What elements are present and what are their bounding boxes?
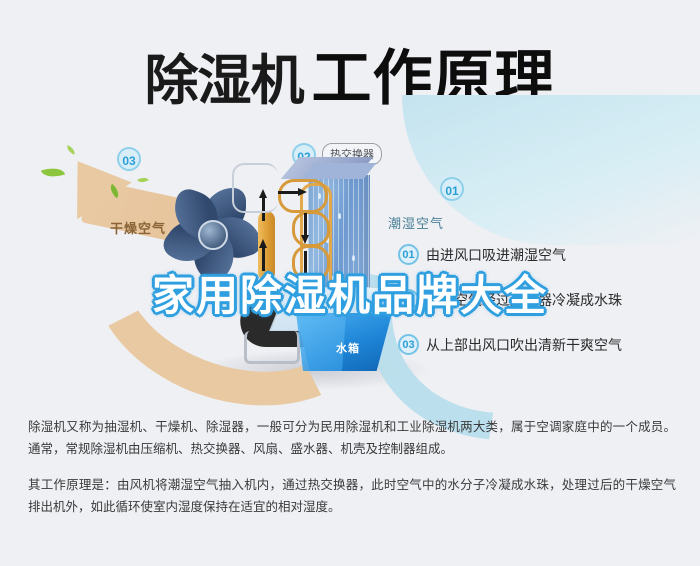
fan-hub <box>198 220 228 250</box>
paragraph-1: 除湿机又称为抽湿机、干燥机、除湿器，一般可分为民用除湿机和工业除湿机两大类，属于… <box>28 416 676 460</box>
paragraph-2: 其工作原理是：由风机将潮湿空气抽入机内，通过热交换器，此时空气中的水分子冷凝成水… <box>28 474 676 518</box>
flow-arrow-stem <box>278 191 298 194</box>
refrigerant-loop-pipe <box>278 179 328 213</box>
overlay-headline: 家用除湿机品牌大全 <box>0 262 700 323</box>
poster-canvas: 除湿机工作原理 01 潮湿空气 干燥空气 03 热交换器 02 <box>0 0 700 566</box>
badge-01: 01 <box>440 177 464 201</box>
water-droplet-icon <box>352 255 355 261</box>
flow-arrow-stem <box>304 213 307 235</box>
badge-03: 03 <box>117 147 141 171</box>
list-item: 03 从上部出风口吹出清新干爽空气 <box>398 334 690 355</box>
flow-arrow-up-icon <box>259 239 267 248</box>
bottom-coil <box>244 331 300 364</box>
step-text-03: 从上部出风口吹出清新干爽空气 <box>426 335 622 355</box>
refrigerant-loop-pipe <box>292 211 330 247</box>
dehumidifier-machine: 水箱 <box>230 135 420 385</box>
connecting-tube <box>232 163 278 213</box>
article-body: 除湿机又称为抽湿机、干燥机、除湿器，一般可分为民用除湿机和工业除湿机两大类，属于… <box>28 416 676 532</box>
flow-arrow-right-icon <box>298 188 307 196</box>
water-tank-label: 水箱 <box>336 340 360 356</box>
page-title-part1: 除湿机 <box>145 49 304 112</box>
step-badge-03: 03 <box>398 334 419 355</box>
water-droplet-icon <box>338 213 341 219</box>
dry-air-label: 干燥空气 <box>110 218 166 237</box>
flow-arrow-down-icon <box>301 235 309 244</box>
